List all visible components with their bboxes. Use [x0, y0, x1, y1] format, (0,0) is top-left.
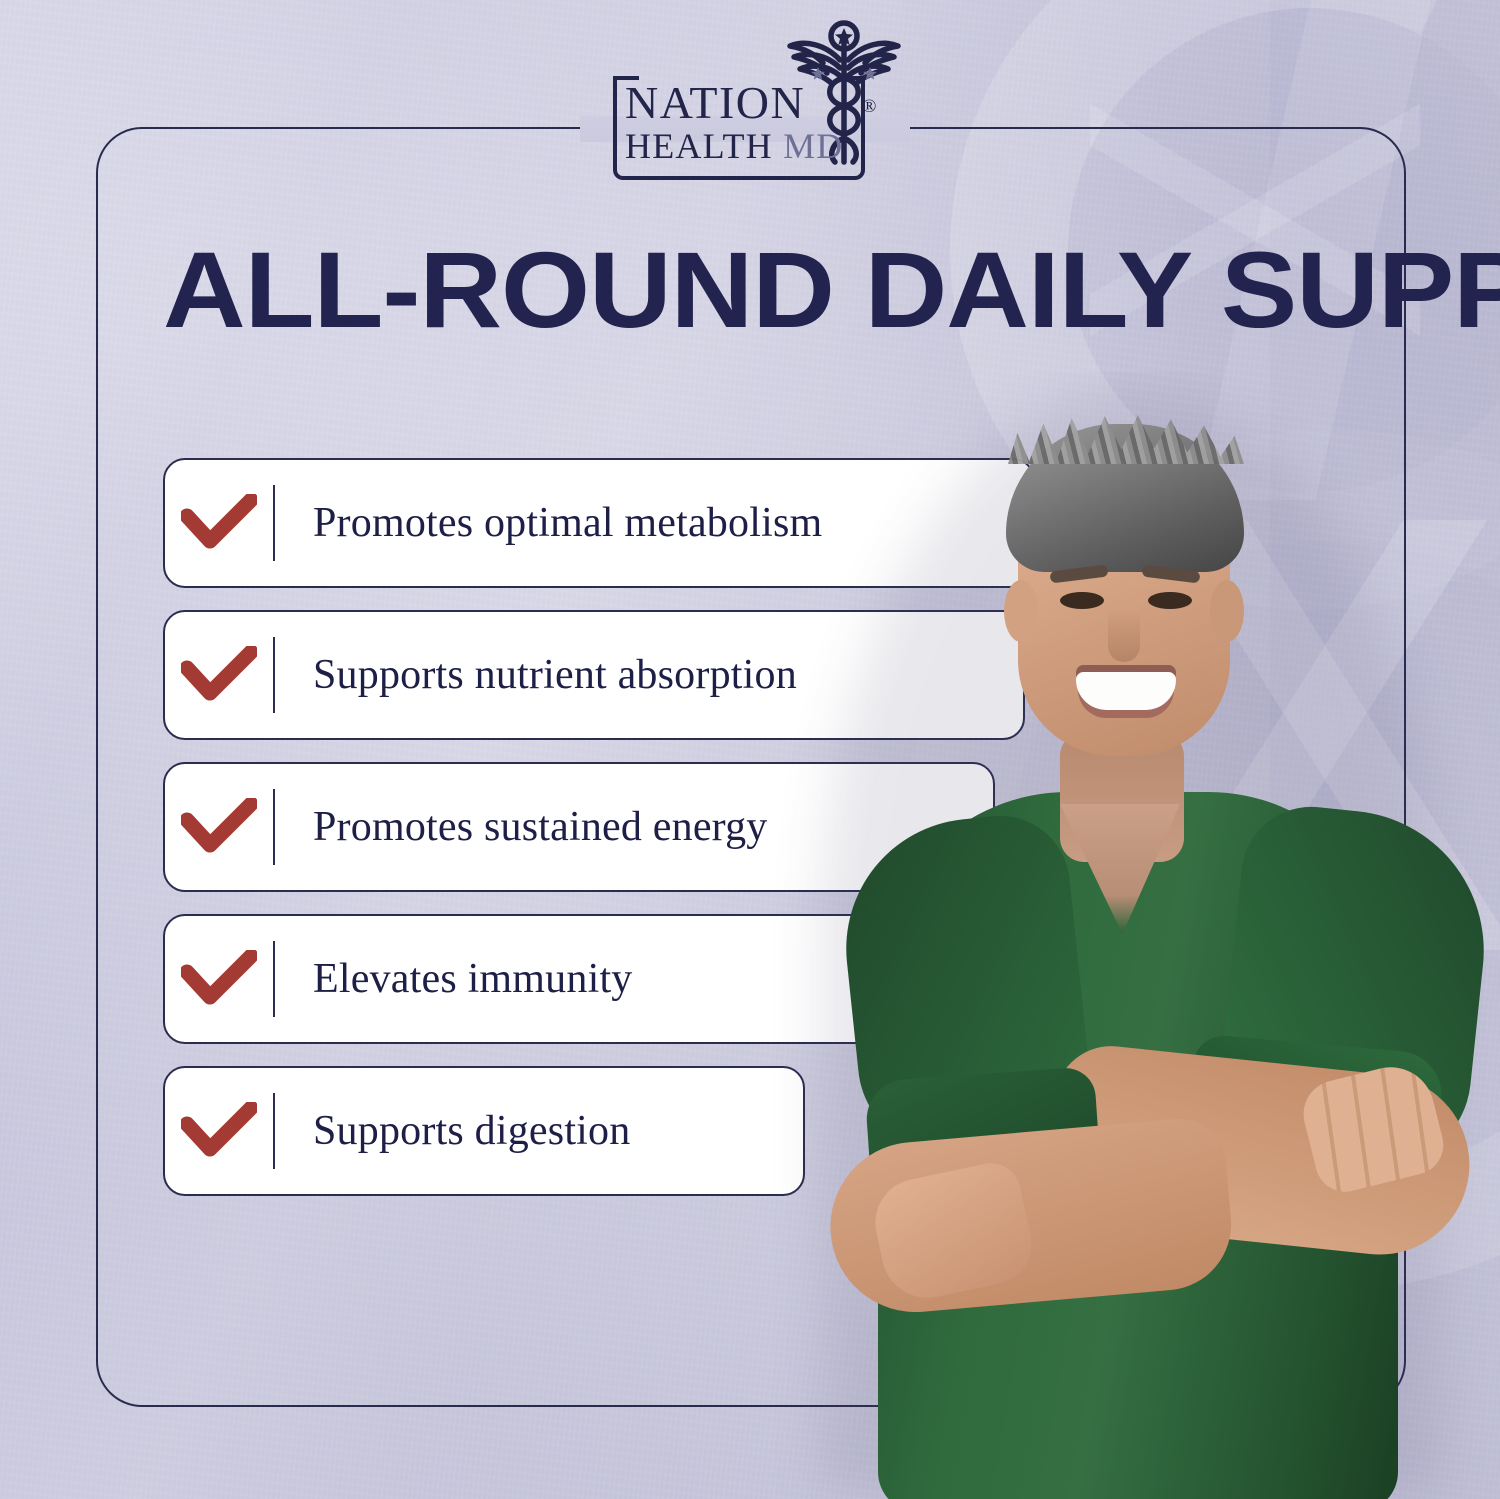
watermark-chevron: [1110, 520, 1500, 950]
list-item: Elevates immunity: [163, 914, 921, 1044]
benefit-label: Supports nutrient absorption: [275, 651, 797, 699]
check-icon: [165, 494, 273, 552]
benefit-label: Promotes sustained energy: [275, 803, 768, 851]
logo-text-md: MD: [783, 126, 843, 166]
benefit-label: Elevates immunity: [275, 955, 633, 1003]
logo-text-health: HEALTH: [625, 126, 783, 166]
page-title: ALL-ROUND DAILY SUPPORT: [163, 236, 1393, 344]
registered-trademark-icon: ®: [862, 96, 876, 118]
list-item: Supports nutrient absorption: [163, 610, 1025, 740]
list-item: Promotes optimal metabolism: [163, 458, 1035, 588]
check-icon: [165, 950, 273, 1008]
check-icon: [165, 646, 273, 704]
benefits-list: Promotes optimal metabolism Supports nut…: [163, 458, 1038, 1218]
list-item: Promotes sustained energy: [163, 762, 995, 892]
list-item: Supports digestion: [163, 1066, 805, 1196]
benefit-label: Promotes optimal metabolism: [275, 499, 822, 547]
logo-text-nation: NATION: [625, 80, 861, 126]
benefit-label: Supports digestion: [275, 1107, 630, 1155]
check-icon: [165, 798, 273, 856]
check-icon: [165, 1102, 273, 1160]
logo-text-health-md: HEALTH MD: [625, 128, 843, 164]
brand-logo: NATION HEALTH MD ®: [585, 18, 915, 178]
watermark-band-right: [1270, 0, 1500, 1499]
